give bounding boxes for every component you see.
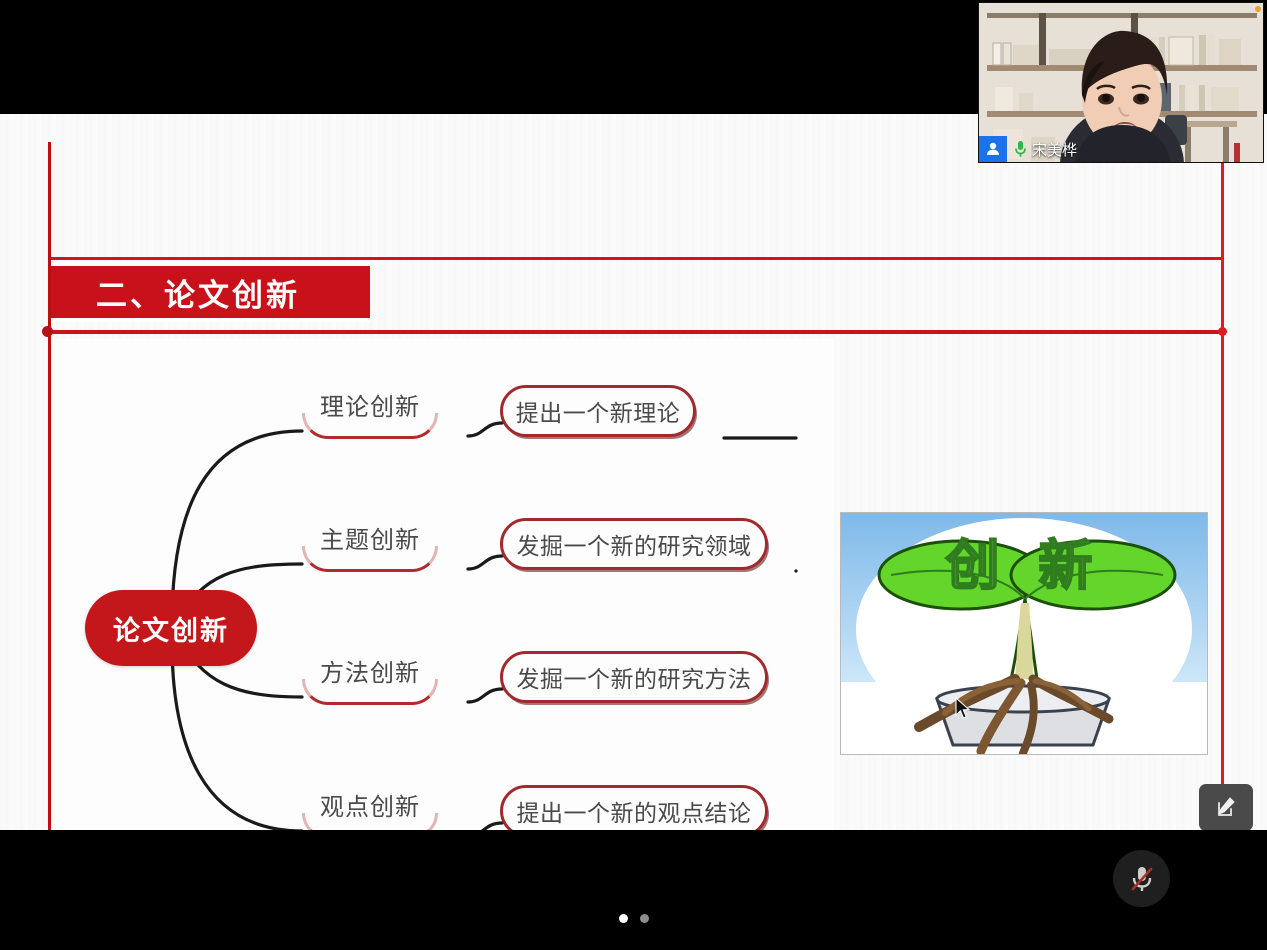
frame-line-top [48,257,1224,260]
illustration-word: 创 新 [946,521,1103,600]
mic-glyph [1014,140,1027,158]
innovation-sprout-illustration: 创 新 [840,512,1208,755]
frame-line-under-title [44,330,1224,334]
detail-text: 发掘一个新的研究方法 [517,660,752,694]
recording-indicator-dot [1255,6,1261,12]
person-glyph [985,141,1001,157]
mindmap-detail-2: 发掘一个新的研究领域 [500,518,768,570]
mindmap-detail-4: 提出一个新的观点结论 [500,785,768,830]
mute-button[interactable] [1113,850,1170,907]
presentation-slide[interactable]: 二、论文创新 [0,114,1267,830]
mindmap-branch-label-1: 理论创新 [300,387,440,443]
participant-name-bar: 宋美桦 [979,136,1085,162]
microphone-muted-icon [1128,864,1156,894]
branch-underline [302,413,438,439]
mouse-cursor [954,697,972,721]
bottom-toolbar [0,830,1267,950]
page-dot-1[interactable] [619,914,628,923]
detail-text: 提出一个新的观点结论 [517,794,752,828]
screen-root: 二、论文创新 [0,0,1267,950]
person-icon [979,136,1007,162]
slide-title-banner: 二、论文创新 [50,262,370,322]
microphone-icon [1014,140,1027,158]
mindmap-connectors [52,339,834,830]
detail-text: 发掘一个新的研究领域 [517,527,752,561]
mindmap-detail-3: 发掘一个新的研究方法 [500,651,768,703]
detail-text: 提出一个新理论 [516,394,681,428]
branch-underline [302,679,438,705]
frame-line-right [1221,114,1224,830]
pen-annotate-icon [1213,795,1239,821]
mindmap-branch-label-4: 观点创新 [300,787,440,830]
participant-video-tile[interactable]: 宋美桦 [978,2,1264,163]
page-title: 二、论文创新 [96,270,300,315]
mindmap-detail-1: 提出一个新理论 [500,385,696,437]
mindmap-panel: 理论创新 主题创新 方法创新 观点创新 提出一个新理论 发掘一个新的研究领域 [52,339,834,830]
page-dot-2[interactable] [640,914,649,923]
mindmap-branch-label-3: 方法创新 [300,653,440,709]
participant-name: 宋美桦 [1032,139,1077,160]
page-indicator-dots[interactable] [0,914,1267,923]
annotate-tool-button[interactable] [1199,784,1253,830]
branch-underline [302,813,438,830]
mindmap-branch-label-2: 主题创新 [300,520,440,576]
center-node-text: 论文创新 [113,609,229,648]
mindmap-center-node: 论文创新 [85,590,257,666]
frame-line-left [48,142,51,830]
branch-underline [302,546,438,572]
